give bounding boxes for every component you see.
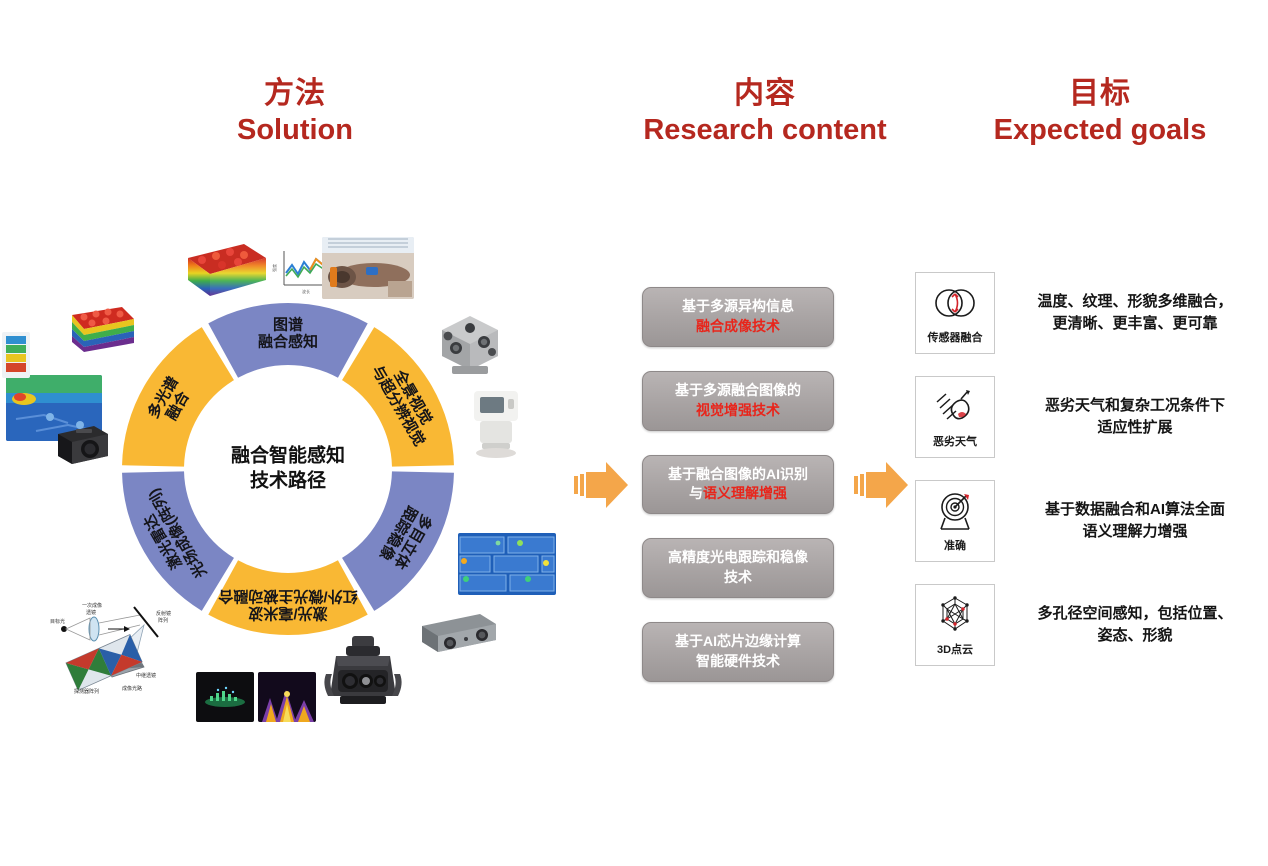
- header-goals-cn: 目标: [950, 76, 1250, 111]
- goal-description-line1: 温度、纹理、形貌多维融合，: [1019, 291, 1251, 313]
- research-box-3[interactable]: 基于融合图像的AI识别与语义理解增强: [642, 455, 834, 515]
- goal-card-caption: 3D点云: [937, 641, 973, 657]
- header-solution-en: Solution: [170, 113, 420, 147]
- research-box-line1: 基于融合图像的AI识别: [651, 465, 825, 485]
- header-content-en: Research content: [600, 113, 930, 147]
- goal-description-3: 基于数据融合和AI算法全面语义理解力增强: [1019, 499, 1251, 543]
- point-cloud-icon: [933, 593, 977, 637]
- diagram-canvas: 方法 Solution 内容 Research content 目标 Expec…: [0, 0, 1268, 866]
- spectral-imager-photo: [2, 332, 30, 378]
- gimbal-turret-photo: [322, 634, 404, 718]
- research-box-line2-highlight: 语义理解增强: [703, 485, 787, 501]
- target-dart-icon: [933, 489, 977, 533]
- ring-center-label: 融合智能感知 技术路径: [231, 444, 345, 493]
- research-box-line2-highlight: 视觉增强技术: [696, 402, 780, 418]
- goal-description-line2: 更清晰、更丰富、更可靠: [1019, 313, 1251, 335]
- svg-text:一次成像: 一次成像: [82, 602, 102, 609]
- research-box-1[interactable]: 基于多源异构信息融合成像技术: [642, 287, 834, 347]
- rain-weather-icon: [934, 385, 976, 429]
- lidar-pointcloud-photo: [196, 672, 254, 722]
- goal-description-line2: 语义理解力增强: [1019, 521, 1251, 543]
- header-content-cn: 内容: [600, 76, 930, 111]
- goal-card-caption: 传感器融合: [928, 329, 983, 345]
- goal-row-4: 3D点云多孔径空间感知，包括位置、姿态、形貌: [915, 584, 1255, 666]
- header-goals-en: Expected goals: [950, 113, 1250, 147]
- research-content-list: 基于多源异构信息融合成像技术基于多源融合图像的视觉增强技术基于融合图像的AI识别…: [642, 287, 838, 706]
- svg-text:波长: 波长: [302, 288, 310, 294]
- svg-text:透镜: 透镜: [86, 609, 96, 616]
- hyperspectral-cube-photo: [182, 238, 268, 304]
- goal-card-4[interactable]: 3D点云: [915, 584, 995, 666]
- goal-description-line1: 恶劣天气和复杂工况条件下: [1019, 395, 1251, 417]
- scanner-device-photo: [468, 387, 524, 459]
- ring-center-line1: 融合智能感知: [231, 444, 345, 469]
- research-box-line2: 技术: [651, 568, 825, 588]
- goal-description-line2: 姿态、形貌: [1019, 625, 1251, 647]
- svg-text:成像光路: 成像光路: [122, 685, 142, 692]
- ring-segment-upper-right[interactable]: [342, 327, 454, 466]
- thermal-camera-photo: [54, 420, 112, 466]
- research-box-line2-plain: 技术: [724, 569, 752, 585]
- goal-description-1: 温度、纹理、形貌多维融合，更清晰、更丰富、更可靠: [1019, 291, 1251, 335]
- research-box-line2-plain: 与: [689, 485, 703, 501]
- goal-description-line2: 适应性扩展: [1019, 417, 1251, 439]
- research-box-line1: 高精度光电跟踪和稳像: [651, 548, 825, 568]
- column-header-content: 内容 Research content: [600, 76, 930, 148]
- goal-card-caption: 恶劣天气: [933, 433, 977, 449]
- research-box-5[interactable]: 基于AI芯片边缘计算智能硬件技术: [642, 622, 834, 682]
- fusion-technology-ring: 融合智能感知 技术路径 图谱融合感知全景视觉与超分辨视觉多目立体跟踪稳像激光/毫…: [116, 297, 460, 641]
- ring-segment-lower-left[interactable]: [122, 471, 234, 610]
- research-box-line1: 基于AI芯片边缘计算: [651, 632, 825, 652]
- research-box-line1: 基于多源异构信息: [651, 297, 825, 317]
- svg-text:中继透镜: 中继透镜: [136, 672, 156, 679]
- thermal-wall-photo: [458, 533, 556, 595]
- research-box-line2-highlight: 融合成像技术: [696, 318, 780, 334]
- research-box-line2: 视觉增强技术: [651, 401, 825, 421]
- goal-row-2: 恶劣天气恶劣天气和复杂工况条件下适应性扩展: [915, 376, 1255, 458]
- goal-card-2[interactable]: 恶劣天气: [915, 376, 995, 458]
- column-header-goals: 目标 Expected goals: [950, 76, 1250, 148]
- goal-card-caption: 准确: [944, 537, 966, 553]
- goal-row-1: 传感器融合温度、纹理、形貌多维融合，更清晰、更丰富、更可靠: [915, 272, 1255, 354]
- goal-description-2: 恶劣天气和复杂工况条件下适应性扩展: [1019, 395, 1251, 439]
- research-box-2[interactable]: 基于多源融合图像的视觉增强技术: [642, 371, 834, 431]
- research-box-line2: 融合成像技术: [651, 317, 825, 337]
- research-box-line2: 智能硬件技术: [651, 652, 825, 672]
- svg-text:强度: 强度: [272, 264, 277, 272]
- svg-text:目标光: 目标光: [50, 618, 65, 625]
- ring-segment-upper-left[interactable]: [122, 327, 234, 466]
- ring-segment-lower-right[interactable]: [342, 471, 454, 610]
- arrow-solution-to-content: [572, 458, 630, 512]
- research-box-4[interactable]: 高精度光电跟踪和稳像技术: [642, 538, 834, 598]
- venn-fusion-icon: [932, 281, 978, 325]
- header-solution-cn: 方法: [170, 76, 420, 111]
- arrow-content-to-goals: [852, 458, 910, 512]
- goal-description-4: 多孔径空间感知，包括位置、姿态、形貌: [1019, 603, 1251, 647]
- ring-center-line2: 技术路径: [231, 469, 345, 494]
- goal-description-line1: 多孔径空间感知，包括位置、: [1019, 603, 1251, 625]
- expected-goals-list: 传感器融合温度、纹理、形貌多维融合，更清晰、更丰富、更可靠 恶劣天气恶劣天气和复…: [915, 272, 1255, 688]
- research-box-line1: 基于多源融合图像的: [651, 381, 825, 401]
- goal-card-3[interactable]: 准确: [915, 480, 995, 562]
- goal-row-3: 准确基于数据融合和AI算法全面语义理解力增强: [915, 480, 1255, 562]
- goal-description-line1: 基于数据融合和AI算法全面: [1019, 499, 1251, 521]
- research-box-line2: 与语义理解增强: [651, 484, 825, 504]
- research-box-line2-plain: 智能硬件技术: [696, 653, 780, 669]
- svg-text:探测器阵列: 探测器阵列: [74, 688, 99, 695]
- thermal-fire-photo: [258, 672, 316, 722]
- industrial-pipeline-photo: [322, 237, 414, 299]
- column-header-solution: 方法 Solution: [170, 76, 420, 148]
- ring-segment-top[interactable]: [208, 303, 367, 378]
- goal-card-1[interactable]: 传感器融合: [915, 272, 995, 354]
- ring-segment-bottom[interactable]: [208, 560, 367, 635]
